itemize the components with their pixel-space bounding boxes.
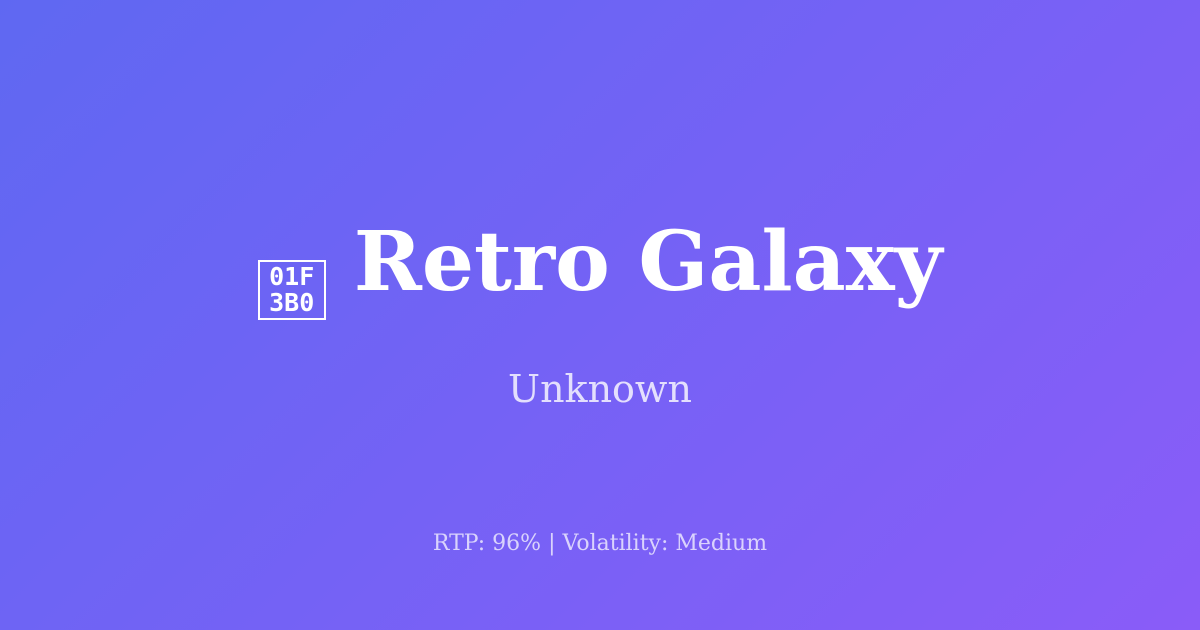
og-card: 01F 3B0 Retro Galaxy Unknown RTP: 96% | … (0, 0, 1200, 630)
provider-label: Unknown (508, 367, 692, 411)
page-title: Retro Galaxy (354, 219, 943, 305)
game-stats: RTP: 96% | Volatility: Medium (0, 530, 1200, 558)
title-row: 01F 3B0 Retro Galaxy (258, 219, 943, 325)
slot-machine-icon-codepoint-top: 01F (269, 264, 314, 290)
slot-machine-icon-codepoint-bottom: 3B0 (269, 290, 314, 316)
slot-machine-icon: 01F 3B0 (258, 260, 326, 320)
